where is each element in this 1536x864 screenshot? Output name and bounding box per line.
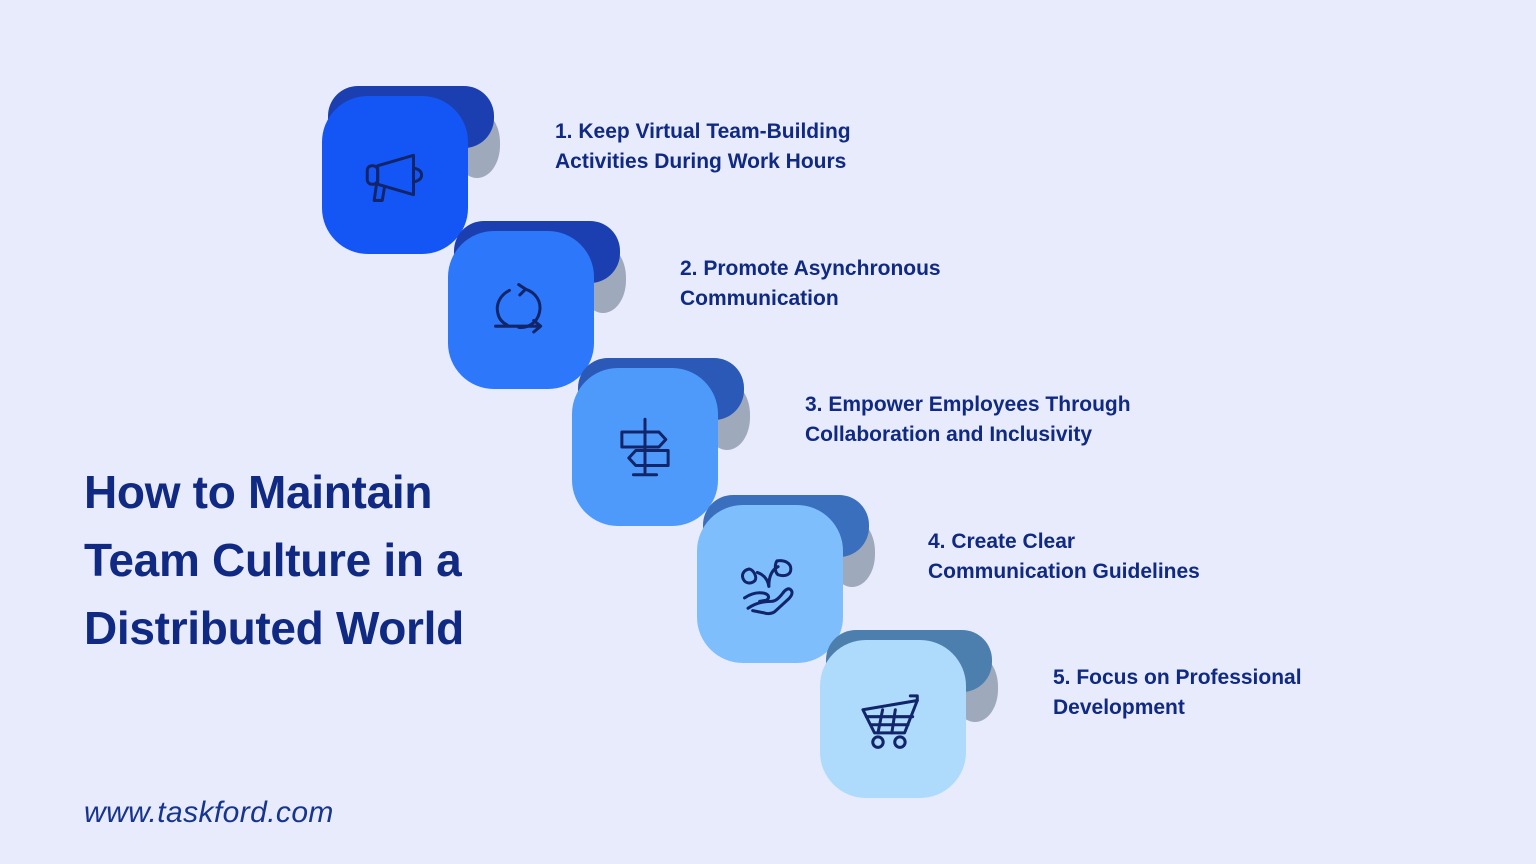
page-title-line-1: How to Maintain bbox=[84, 458, 604, 526]
page-title-line-2: Team Culture in a bbox=[84, 526, 604, 594]
step-label-2: 2. Promote Asynchronous Communication bbox=[680, 254, 941, 315]
shopping-cart-icon bbox=[856, 682, 930, 756]
step-label-5: 5. Focus on Professional Development bbox=[1053, 663, 1302, 724]
megaphone-icon bbox=[358, 138, 432, 212]
step-label-4: 4. Create Clear Communication Guidelines bbox=[928, 527, 1200, 588]
hand-plant-growth-icon bbox=[733, 547, 807, 621]
step-card-5[interactable] bbox=[820, 622, 1120, 832]
refresh-cycle-icon bbox=[484, 273, 558, 347]
card-tile[interactable] bbox=[820, 640, 966, 798]
card-tile[interactable] bbox=[322, 96, 468, 254]
step-label-1: 1. Keep Virtual Team-Building Activities… bbox=[555, 117, 851, 178]
step-label-3: 3. Empower Employees Through Collaborati… bbox=[805, 390, 1131, 451]
footer-website-url[interactable]: www.taskford.com bbox=[84, 796, 334, 830]
infographic-canvas: 1. Keep Virtual Team-Building Activities… bbox=[0, 0, 1536, 864]
page-title-line-3: Distributed World bbox=[84, 594, 604, 662]
signpost-icon bbox=[608, 410, 682, 484]
page-title: How to Maintain Team Culture in a Distri… bbox=[84, 458, 604, 662]
